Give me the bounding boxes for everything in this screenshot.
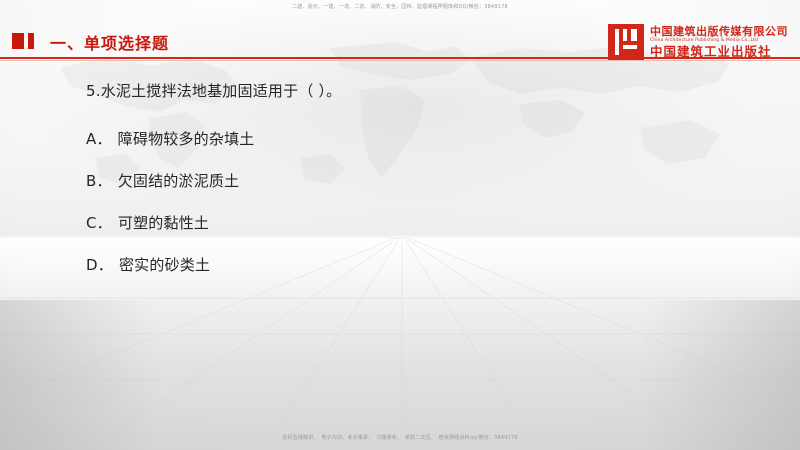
publisher-logo: 中国建筑出版传媒有限公司 China Architecture Publishi… (608, 24, 788, 60)
option-a-label: A． (86, 118, 112, 160)
slide: 二建、造价、一建、一造、二造、消防、安全、园林、监理课程押题库和QQ/微信：38… (0, 0, 800, 450)
page-title: 一、单项选择题 (50, 30, 169, 54)
publisher-logo-mark-icon (608, 24, 644, 60)
answer-options: A．障碍物较多的杂填土 B．欠固结的淤泥质土 C．可塑的黏性土 D．密实的砂类土 (86, 118, 686, 286)
option-d-label: D． (86, 244, 113, 286)
red-square-bullet-large-icon (12, 33, 24, 49)
option-c-label: C． (86, 202, 112, 244)
option-b-label: B． (86, 160, 112, 202)
publisher-imprint-cn: 中国建筑工业出版社 (650, 45, 788, 58)
option-b-text: 欠固结的淤泥质土 (118, 172, 240, 190)
option-c[interactable]: C．可塑的黏性土 (86, 202, 686, 244)
publisher-name-en: China Architecture Publishing & Media Co… (650, 39, 788, 44)
heading-bullet-icon (12, 33, 34, 49)
question-stem: 5.水泥土搅拌法地基加固适用于（ ）。 (86, 80, 341, 101)
publisher-logo-text: 中国建筑出版传媒有限公司 China Architecture Publishi… (650, 26, 788, 57)
option-a[interactable]: A．障碍物较多的杂填土 (86, 118, 686, 160)
bottom-banner-text: 名师直播精讲、 电子内训、考点串讲、 习题课考、 考前二次压、 培资押题资料qq… (0, 432, 800, 444)
option-d-text: 密实的砂类土 (119, 256, 210, 274)
option-a-text: 障碍物较多的杂填土 (118, 130, 255, 148)
red-square-bullet-small-icon (28, 33, 34, 49)
option-d[interactable]: D．密实的砂类土 (86, 244, 686, 286)
option-b[interactable]: B．欠固结的淤泥质土 (86, 160, 686, 202)
header-divider-thin (0, 60, 800, 61)
publisher-name-cn: 中国建筑出版传媒有限公司 (650, 26, 788, 38)
top-banner-text: 二建、造价、一建、一造、二造、消防、安全、园林、监理课程押题库和QQ/微信：38… (0, 0, 800, 14)
option-c-text: 可塑的黏性土 (118, 214, 209, 232)
